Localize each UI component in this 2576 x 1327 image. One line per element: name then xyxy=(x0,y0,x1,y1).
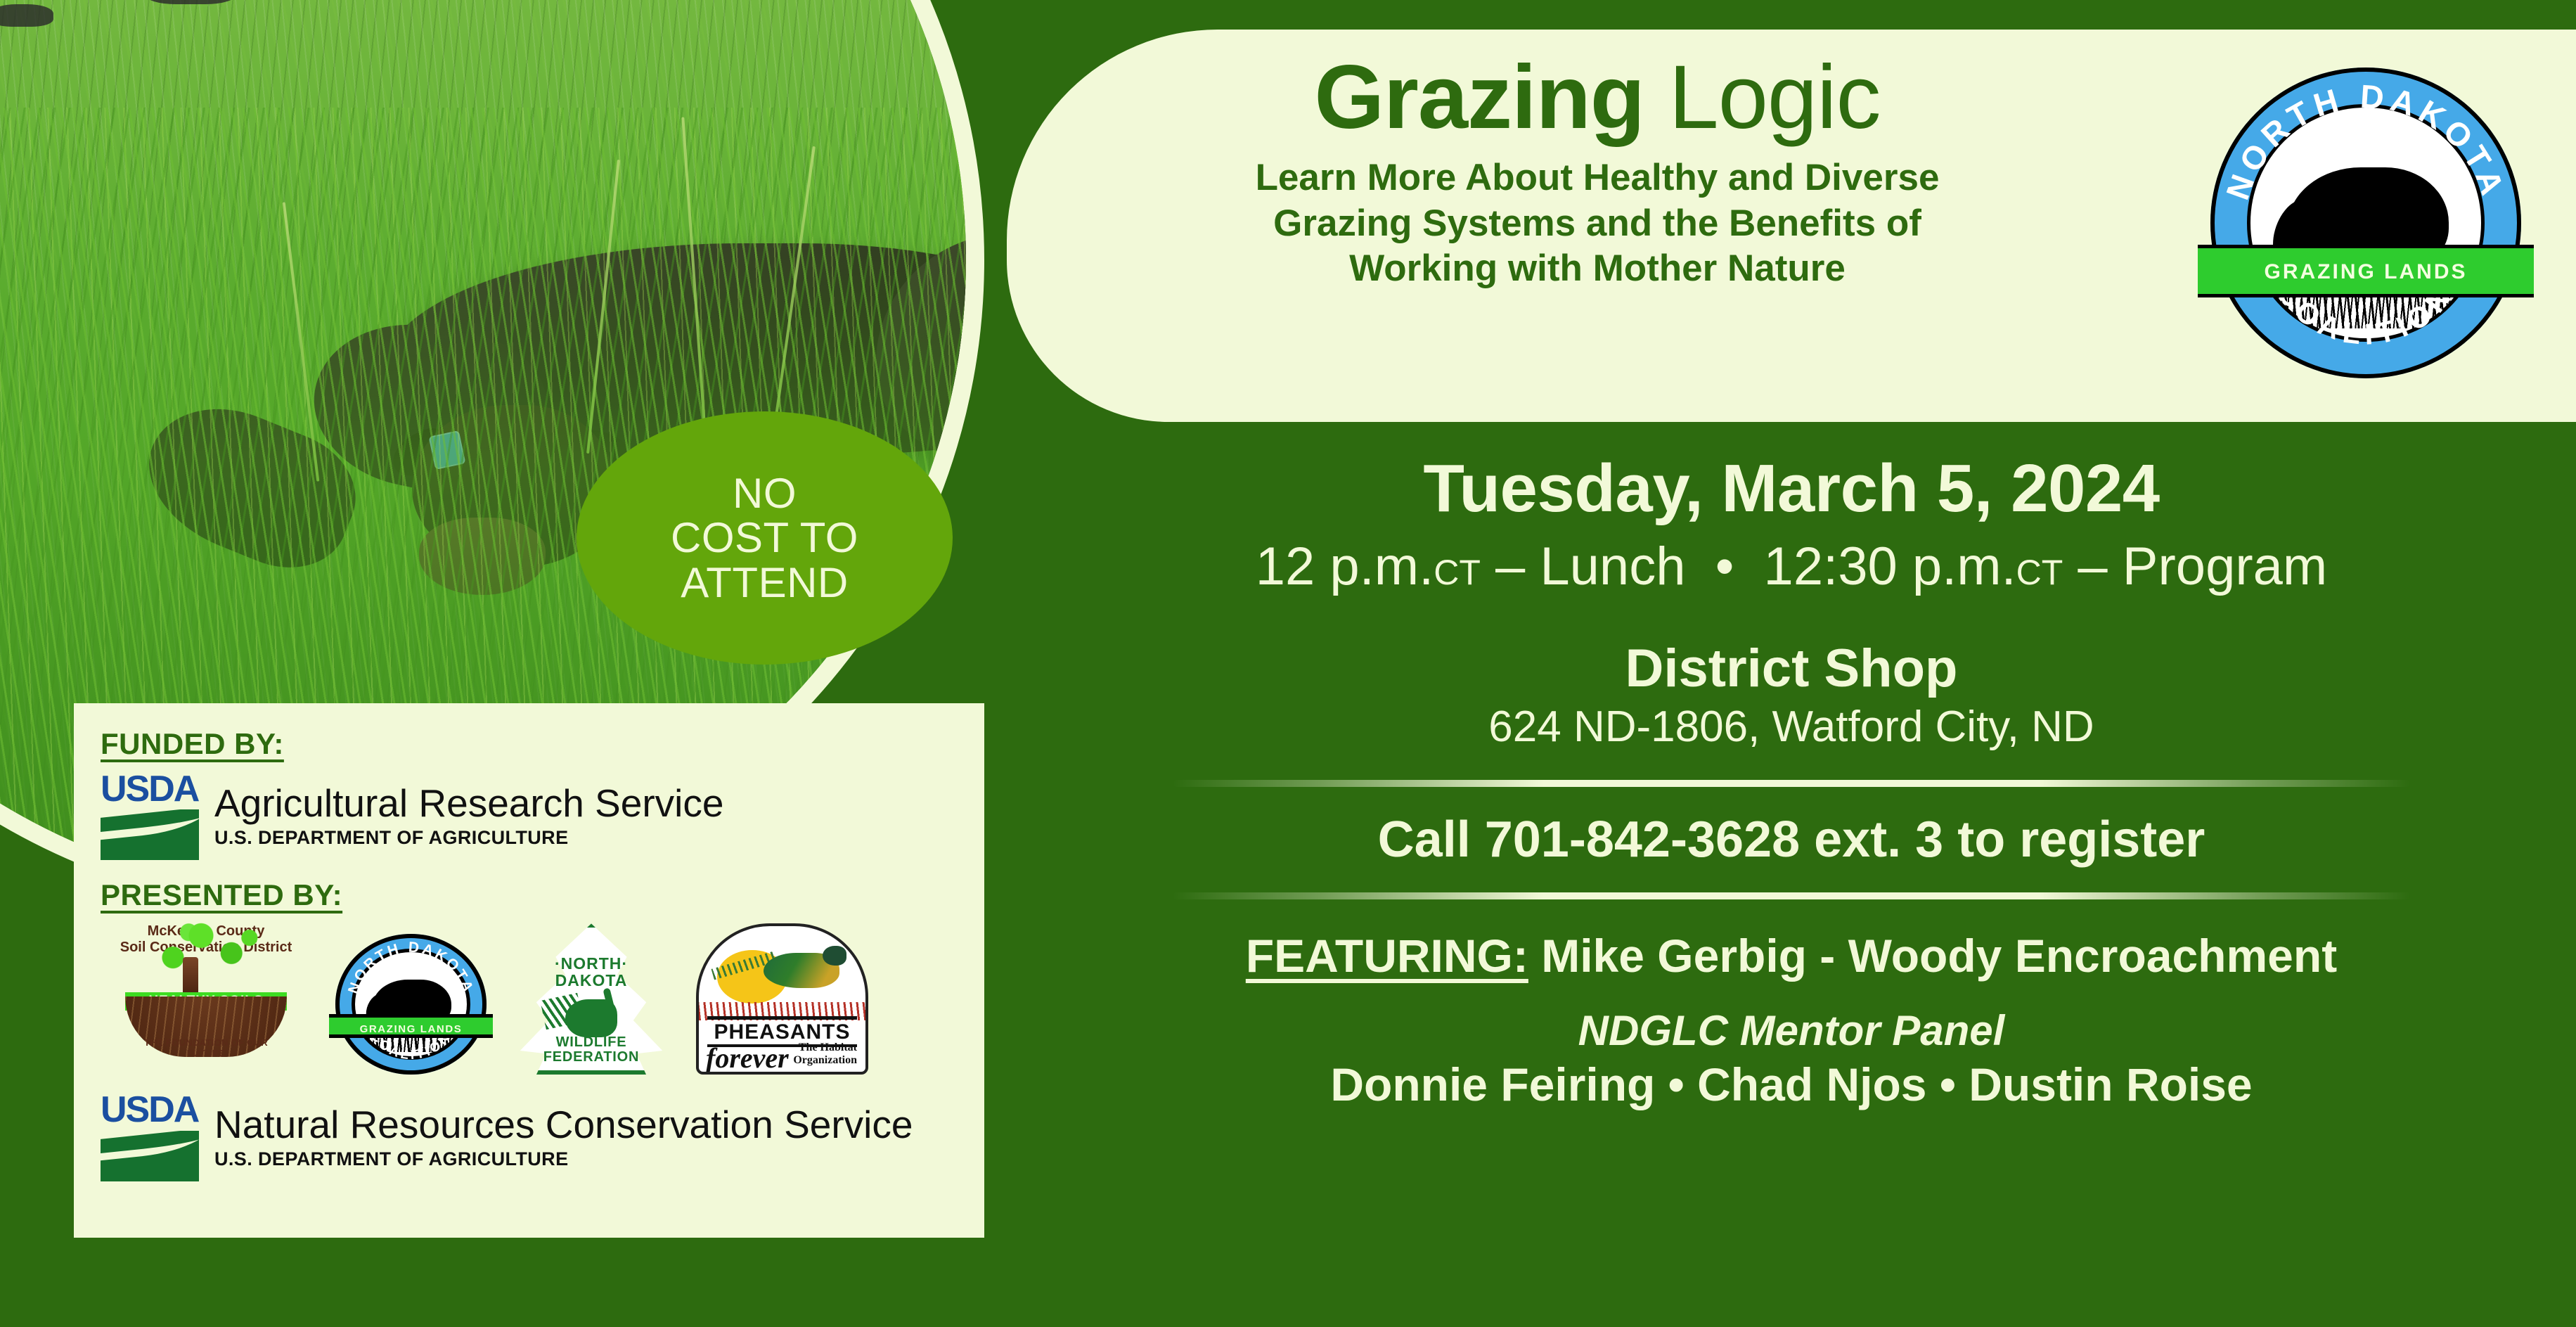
featuring-label: FEATURING: xyxy=(1246,930,1528,982)
nrcs-agency-name: Natural Resources Conservation Service xyxy=(214,1105,913,1144)
pf-rule-top xyxy=(707,1016,857,1020)
nrcs-text-block: Natural Resources Conservation Service U… xyxy=(214,1105,913,1170)
lunch-time: 12 p.m. xyxy=(1256,537,1434,596)
pf-tag-line-1: The Habitat xyxy=(793,1041,857,1054)
featuring-line: FEATURING: Mike Gerbig - Woody Encroachm… xyxy=(1007,929,2576,982)
divider-top xyxy=(1173,780,2410,787)
mentor-panel-title: NDGLC Mentor Panel xyxy=(1007,1006,2576,1055)
page-title: Grazing Logic xyxy=(1049,51,2146,144)
usda-nrcs-row: USDA Natural Resources Conservation Serv… xyxy=(101,1093,958,1181)
lunch-timezone: CT xyxy=(1434,553,1481,592)
badge-line-1: NO xyxy=(671,471,858,516)
badge-line-3: ATTEND xyxy=(671,560,858,605)
header-panel: Grazing Logic Learn More About Healthy a… xyxy=(1007,30,2576,422)
event-venue: District Shop xyxy=(1007,638,2576,699)
ndglc-logo: NORTH DAKOTA COALITION GRAZING LANDS xyxy=(2210,68,2521,378)
svg-text:NORTH DAKOTA: NORTH DAKOTA xyxy=(345,940,477,996)
divider-bottom xyxy=(1173,892,2410,899)
ndglc-logo-arc-text: NORTH DAKOTA COALITION xyxy=(2210,68,2521,378)
distant-cow xyxy=(0,4,53,27)
ndwf-line-3: WILDLIFE xyxy=(510,1035,672,1050)
nrcs-agency-sub: U.S. DEPARTMENT OF AGRICULTURE xyxy=(214,1148,913,1170)
usda-ars-row: USDA Agricultural Research Service U.S. … xyxy=(101,772,958,860)
mckenzie-scd-logo: McKenzie County Soil Conservation Distri… xyxy=(101,923,311,1075)
svg-text:NORTH DAKOTA: NORTH DAKOTA xyxy=(2219,78,2513,205)
ndglc-small-ring-top: NORTH DAKOTA xyxy=(345,940,477,996)
ars-text-block: Agricultural Research Service U.S. DEPAR… xyxy=(214,783,723,849)
event-date: Tuesday, March 5, 2024 xyxy=(1007,450,2576,527)
ndglc-logo-small: NORTH DAKOTA COALITION GRAZING LANDS xyxy=(335,934,487,1075)
sponsor-panel: FUNDED BY: USDA Agricultural Research Se… xyxy=(74,703,984,1238)
pf-script-word: forever xyxy=(706,1041,789,1075)
subtitle-line-3: Working with Mother Nature xyxy=(1049,246,2146,292)
ndglc-banner: GRAZING LANDS xyxy=(2198,245,2533,297)
featuring-speaker: Mike Gerbig - Woody Encroachment xyxy=(1528,930,2337,982)
page-subtitle: Learn More About Healthy and Diverse Gra… xyxy=(1049,155,2146,292)
usda-logo-ars: USDA xyxy=(101,772,199,860)
mentor-panel-names: Donnie Feiring • Chad Njos • Dustin Rois… xyxy=(1007,1058,2576,1111)
ndglc-small-banner: GRAZING LANDS xyxy=(329,1014,492,1038)
healthy-soils-icon: HEALTHY SOILS THE FOUNDATION OF OUR FUTU… xyxy=(125,959,287,1057)
usda-logo-nrcs: USDA xyxy=(101,1093,199,1181)
nd-wildlife-federation-logo: ·NORTH· DAKOTA WILDLIFE FEDERATION xyxy=(510,923,672,1075)
subtitle-line-2: Grazing Systems and the Benefits of xyxy=(1049,201,2146,247)
usda-wordmark: USDA xyxy=(101,772,199,807)
event-address: 624 ND-1806, Watford City, ND xyxy=(1007,702,2576,752)
no-cost-badge-text: NO COST TO ATTEND xyxy=(671,471,858,605)
partner-logo-row: McKenzie County Soil Conservation Distri… xyxy=(101,923,958,1075)
ndwf-top-text: ·NORTH· DAKOTA xyxy=(510,956,672,989)
mckenzie-tagline: THE FOUNDATION OF OUR FUTURE xyxy=(125,1037,287,1058)
pf-tag-line-2: Organization xyxy=(793,1054,857,1067)
program-label: – Program xyxy=(2063,537,2327,596)
event-times: 12 p.m.CT – Lunch • 12:30 p.m.CT – Progr… xyxy=(1007,536,2576,597)
title-light-word: Logic xyxy=(1644,47,1881,148)
pheasant-head-icon xyxy=(823,946,846,966)
ndwf-line-2: DAKOTA xyxy=(510,973,672,989)
title-bold-word: Grazing xyxy=(1314,47,1644,148)
usda-hill-icon xyxy=(101,1131,199,1181)
ndglc-small-arc-text: NORTH DAKOTA COALITION xyxy=(335,934,487,1075)
ndwf-line-4: FEDERATION xyxy=(510,1050,672,1065)
ars-agency-sub: U.S. DEPARTMENT OF AGRICULTURE xyxy=(214,827,723,849)
usda-wordmark: USDA xyxy=(101,1093,199,1127)
no-cost-badge: NO COST TO ATTEND xyxy=(577,411,953,665)
distant-cow xyxy=(145,0,236,4)
ndwf-bottom-text: WILDLIFE FEDERATION xyxy=(510,1035,672,1065)
lunch-label: – Lunch xyxy=(1481,537,1686,596)
usda-hill-icon xyxy=(101,809,199,860)
ndwf-line-1: ·NORTH· xyxy=(510,956,672,972)
program-timezone: CT xyxy=(2016,553,2063,592)
ndglc-ring-top-text: NORTH DAKOTA xyxy=(2219,78,2513,205)
header-text-block: Grazing Logic Learn More About Healthy a… xyxy=(1049,51,2146,292)
pf-tagline: The Habitat Organization xyxy=(793,1041,857,1066)
tree-leaves-icon xyxy=(150,919,263,974)
event-details: Tuesday, March 5, 2024 12 p.m.CT – Lunch… xyxy=(1007,450,2576,1111)
subtitle-line-1: Learn More About Healthy and Diverse xyxy=(1049,155,2146,201)
funded-by-label: FUNDED BY: xyxy=(101,727,958,761)
badge-line-2: COST TO xyxy=(671,515,858,560)
ars-agency-name: Agricultural Research Service xyxy=(214,783,723,823)
time-separator: • xyxy=(1715,537,1734,596)
registration-phone: Call 701-842-3628 ext. 3 to register xyxy=(1007,811,2576,868)
tree-trunk-icon xyxy=(183,957,198,995)
program-time: 12:30 p.m. xyxy=(1764,537,2016,596)
pheasants-forever-logo: PHEASANTS forever The Habitat Organizati… xyxy=(696,923,868,1075)
presented-by-label: PRESENTED BY: xyxy=(101,878,958,912)
